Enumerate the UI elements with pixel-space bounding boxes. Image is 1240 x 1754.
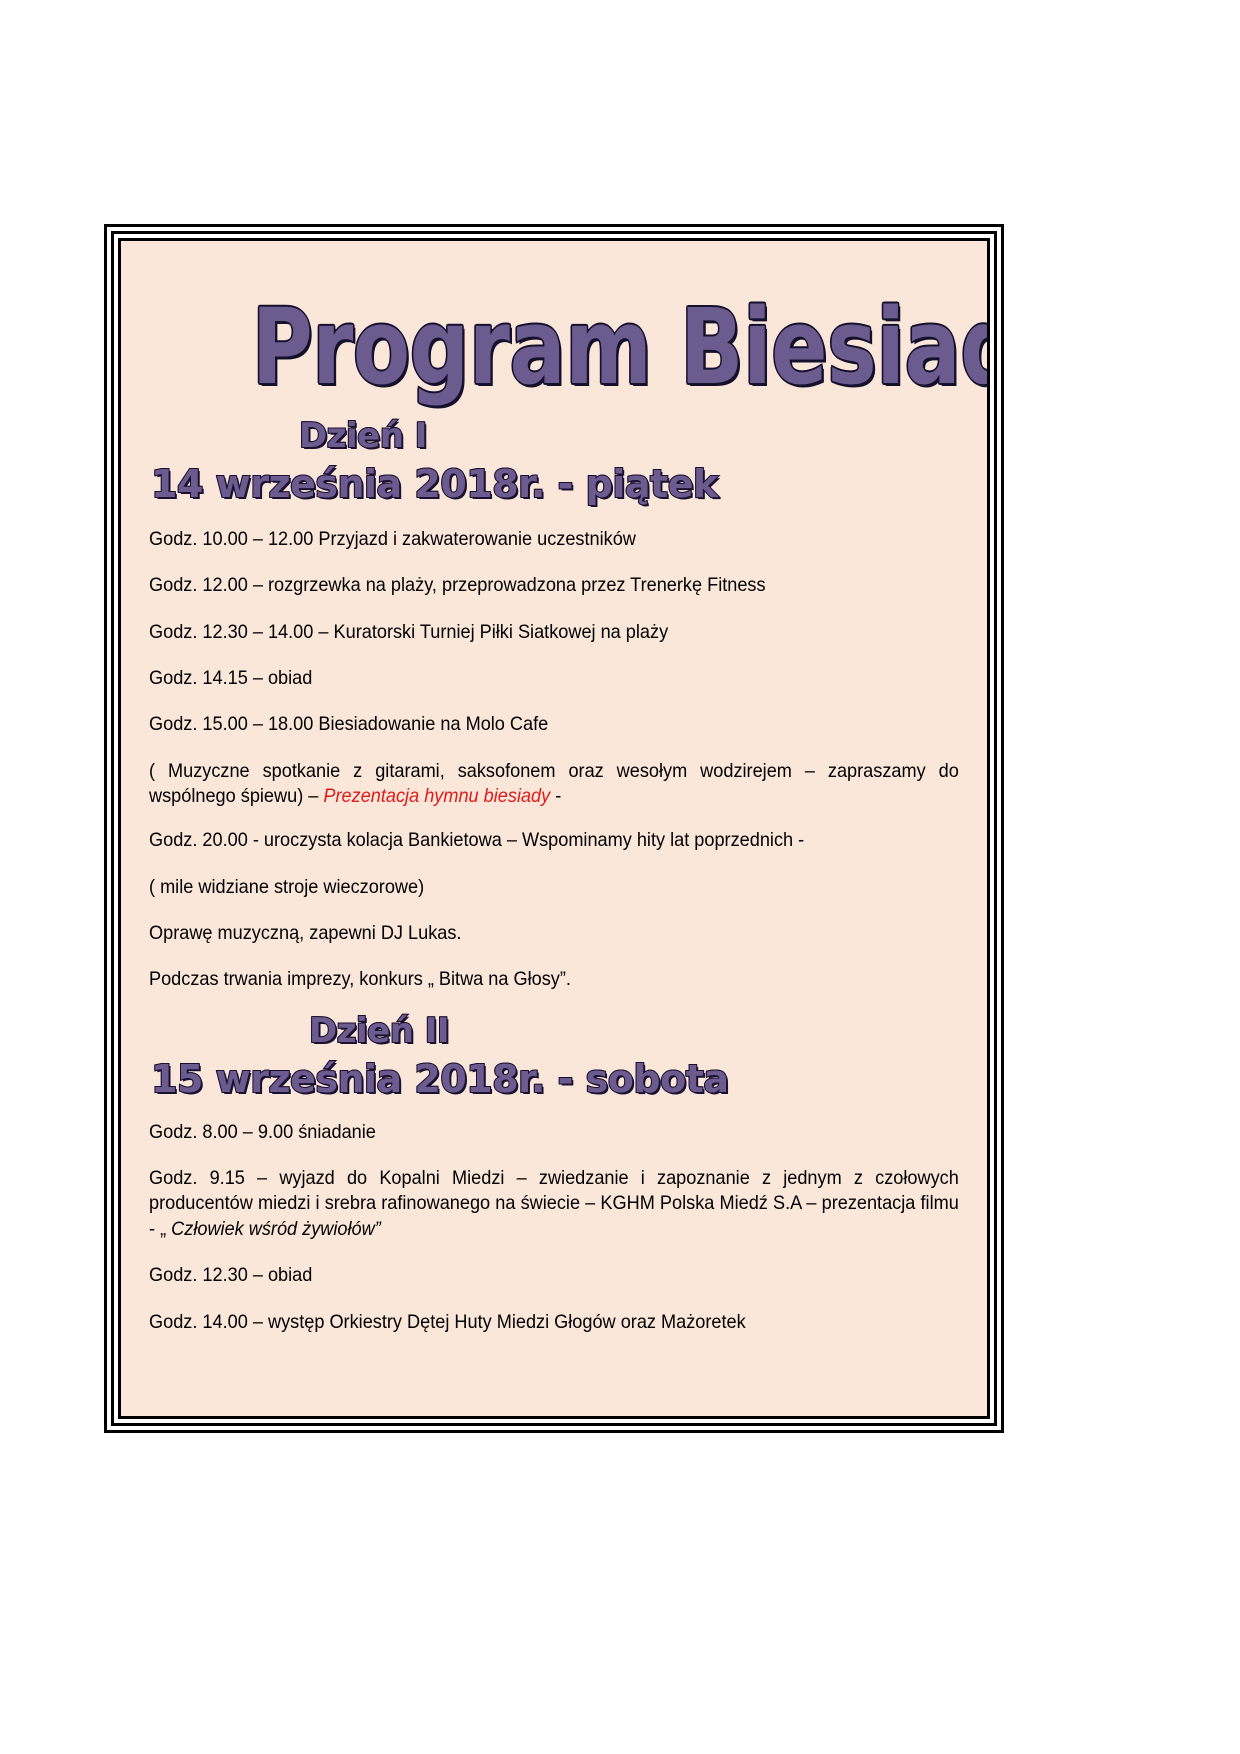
page-title: Program Biesiady xyxy=(149,295,959,415)
day-1-date: 14 września 2018r. - piątek xyxy=(149,465,959,513)
day-2-date: 15 września 2018r. - sobota xyxy=(149,1060,959,1108)
schedule-entry: Godz. 12.30 – 14.00 – Kuratorski Turniej… xyxy=(149,620,959,645)
schedule-entry: Godz. 10.00 – 12.00 Przyjazd i zakwatero… xyxy=(149,527,959,552)
schedule-entry: Godz. 20.00 - uroczysta kolacja Bankieto… xyxy=(149,828,959,853)
day-1-heading: Dzień I xyxy=(149,419,959,463)
page-canvas: Program Biesiady Dzień I 14 września 201… xyxy=(0,0,1240,1754)
schedule-entry-note: ( Muzyczne spotkanie z gitarami, saksofo… xyxy=(149,759,959,810)
note-text-after: - xyxy=(550,785,561,807)
schedule-entry: Godz. 14.15 – obiad xyxy=(149,666,959,691)
schedule-entry: Godz. 12.30 – obiad xyxy=(149,1263,959,1288)
day-1-date-text: 14 września 2018r. - piątek xyxy=(151,462,718,506)
document-content: Program Biesiady Dzień I 14 września 201… xyxy=(121,241,987,1416)
schedule-entry: Godz. 14.00 – występ Orkiestry Dętej Hut… xyxy=(149,1310,959,1335)
page-title-text: Program Biesiady xyxy=(252,295,990,399)
schedule-entry: ( mile widziane stroje wieczorowe) xyxy=(149,875,959,900)
schedule-entry: Oprawę muzyczną, zapewni DJ Lukas. xyxy=(149,921,959,946)
document-border-inner: Program Biesiady Dzień I 14 września 201… xyxy=(118,238,990,1419)
schedule-entry: Podczas trwania imprezy, konkurs „ Bitwa… xyxy=(149,967,959,992)
document-border-middle: Program Biesiady Dzień I 14 września 201… xyxy=(111,231,997,1426)
day-1-heading-text: Dzień I xyxy=(299,416,427,456)
film-title-text: Człowiek wśród żywiołów” xyxy=(171,1218,381,1240)
day-2-heading-text: Dzień II xyxy=(309,1011,449,1051)
note-accent-text: Prezentacja hymnu biesiady xyxy=(323,785,550,807)
schedule-entry: Godz. 15.00 – 18.00 Biesiadowanie na Mol… xyxy=(149,712,959,737)
schedule-entry-film: Godz. 9.15 – wyjazd do Kopalni Miedzi – … xyxy=(149,1166,959,1242)
day-2-heading: Dzień II xyxy=(149,1014,959,1058)
schedule-entry: Godz. 12.00 – rozgrzewka na plaży, przep… xyxy=(149,573,959,598)
day-2-date-text: 15 września 2018r. - sobota xyxy=(151,1057,729,1101)
document-border-outer: Program Biesiady Dzień I 14 września 201… xyxy=(104,224,1004,1433)
schedule-entry: Godz. 8.00 – 9.00 śniadanie xyxy=(149,1120,959,1145)
